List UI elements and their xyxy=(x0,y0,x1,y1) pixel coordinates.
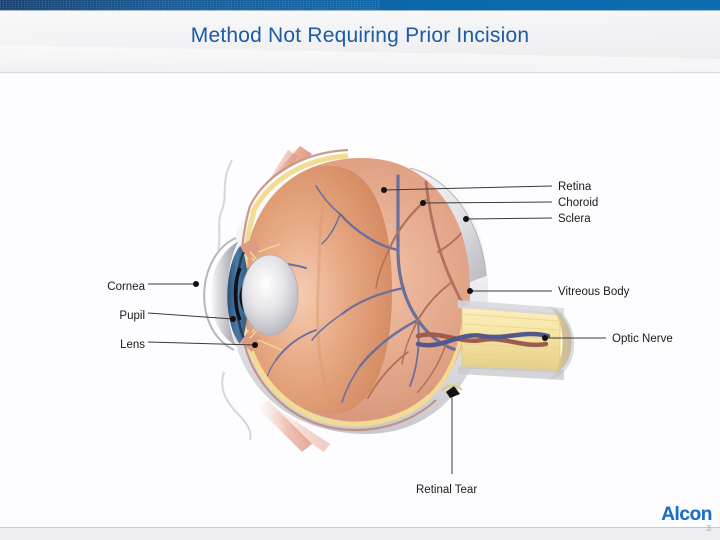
label-cornea: Cornea xyxy=(60,281,145,293)
label-pupil: Pupil xyxy=(60,310,145,322)
label-vitreous-body: Vitreous Body xyxy=(558,286,629,298)
label-retinal-tear: Retinal Tear xyxy=(416,484,477,496)
alcon-logo-mark: 3 xyxy=(707,524,711,533)
top-accent-bar xyxy=(0,0,720,10)
label-optic-nerve: Optic Nerve xyxy=(612,333,673,345)
footer-band xyxy=(0,528,720,540)
label-lens: Lens xyxy=(60,339,145,351)
slide-root: Method Not Requiring Prior Incision xyxy=(0,0,720,540)
top-accent-texture xyxy=(0,0,380,10)
label-retina: Retina xyxy=(558,181,591,193)
label-choroid: Choroid xyxy=(558,197,598,209)
alcon-logo: Alcon 3 xyxy=(642,505,712,535)
page-title: Method Not Requiring Prior Incision xyxy=(0,24,720,48)
diagram-stage xyxy=(0,73,720,527)
label-sclera: Sclera xyxy=(558,213,591,225)
alcon-logo-text: Alcon xyxy=(661,504,712,525)
